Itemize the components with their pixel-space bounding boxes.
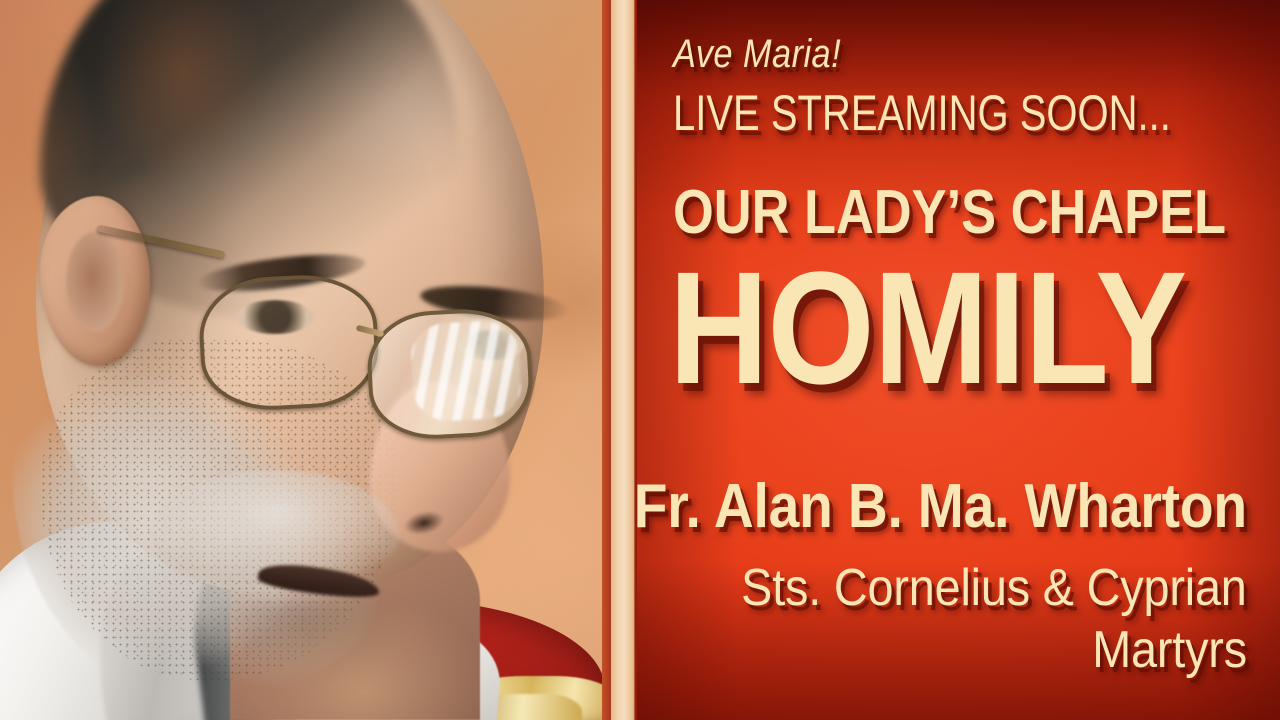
- divider-rust-stripe: [602, 0, 611, 720]
- title-card: Ave Maria! LIVE STREAMING SOON... OUR LA…: [0, 0, 1280, 720]
- live-status-text: LIVE STREAMING SOON...: [673, 88, 1171, 138]
- priest-figure: [0, 0, 606, 720]
- chin-shadow: [210, 600, 410, 690]
- main-title-homily: HOMILY: [669, 248, 1186, 408]
- title-text-block: Ave Maria! LIVE STREAMING SOON... OUR LA…: [673, 0, 1247, 720]
- venue-text: OUR LADY’S CHAPEL: [673, 182, 1226, 244]
- eyeglass-lens-left: [197, 271, 382, 413]
- speaker-name-text: Fr. Alan B. Ma. Wharton: [634, 476, 1247, 538]
- feast-subtitle-text: Martyrs: [1092, 624, 1247, 676]
- divider-cream-stripe: [611, 0, 635, 720]
- eyeglass-glare: [410, 319, 523, 423]
- greeting-text: Ave Maria!: [673, 34, 841, 74]
- feast-text: Sts. Cornelius & Cyprian: [742, 562, 1247, 614]
- priest-portrait-photo: [0, 0, 606, 720]
